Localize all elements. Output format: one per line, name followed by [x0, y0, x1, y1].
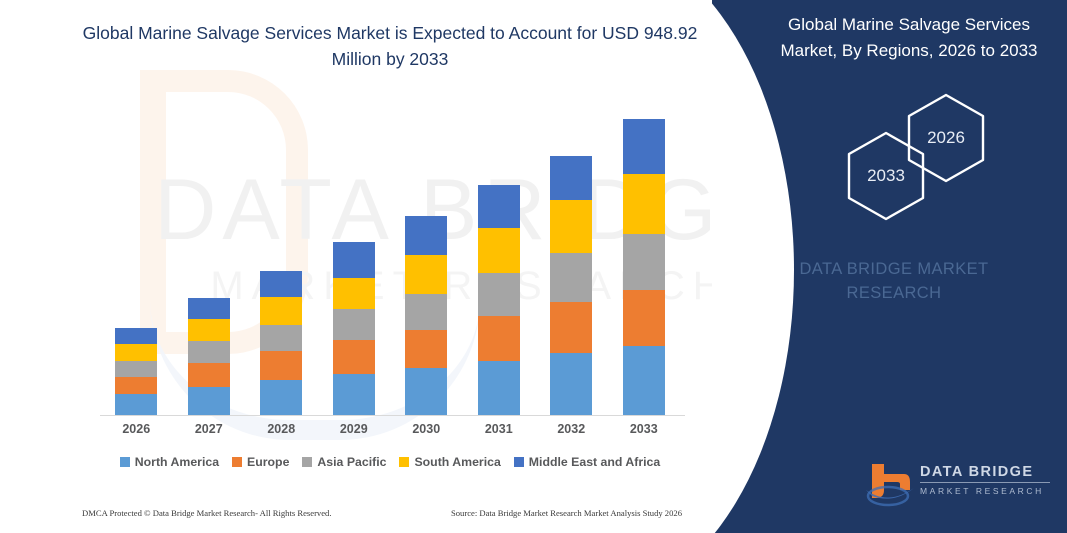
logo-line-2: MARKET RESEARCH: [920, 486, 1050, 496]
data-bridge-logo-icon: [864, 460, 916, 508]
stacked-bar-2033: [623, 119, 665, 415]
brand-panel: Global Marine Salvage Services Market, B…: [712, 0, 1067, 533]
x-axis-tick-label: 2030: [395, 422, 457, 436]
hexagon-badge-2033: 2033: [844, 130, 928, 222]
bar-segment: [405, 330, 447, 368]
legend-item[interactable]: North America: [120, 455, 219, 469]
bar-segment: [623, 234, 665, 290]
bar-segment: [333, 340, 375, 374]
bar-segment: [188, 387, 230, 415]
bar-segment: [333, 242, 375, 278]
stacked-bar-2029: [333, 242, 375, 415]
legend-label: North America: [135, 455, 219, 469]
x-axis-tick-label: 2033: [613, 422, 675, 436]
stacked-bar-2031: [478, 185, 520, 415]
bar-segment: [478, 361, 520, 415]
bar-segment: [550, 253, 592, 302]
bar-segment: [623, 346, 665, 415]
bar-segment: [478, 273, 520, 315]
bar-segment: [550, 156, 592, 201]
footer-copyright: DMCA Protected © Data Bridge Market Rese…: [82, 508, 332, 518]
x-axis-labels: 20262027202820292030203120322033: [100, 422, 680, 436]
bar-segment: [115, 377, 157, 394]
bar-column: [323, 110, 385, 415]
bar-chart-plot: [100, 110, 680, 415]
brand-panel-title: Global Marine Salvage Services Market, B…: [764, 12, 1054, 63]
chart-legend: North AmericaEuropeAsia PacificSouth Ame…: [100, 455, 680, 469]
chart-panel: DATA BRIDGE MARKET RESEARCH Global Marin…: [0, 0, 740, 533]
stacked-bar-2028: [260, 271, 302, 415]
bar-segment: [623, 119, 665, 175]
brand-name-text: DATA BRIDGE MARKET RESEARCH: [754, 258, 1034, 306]
bar-segment: [623, 174, 665, 234]
legend-label: South America: [414, 455, 500, 469]
stacked-bar-2032: [550, 156, 592, 415]
logo-wordmark: DATA BRIDGE MARKET RESEARCH: [920, 464, 1050, 496]
chart-title: Global Marine Salvage Services Market is…: [80, 20, 700, 73]
footer-source: Source: Data Bridge Market Research Mark…: [451, 508, 682, 518]
legend-label: Europe: [247, 455, 289, 469]
bar-segment: [550, 353, 592, 415]
bar-segment: [478, 316, 520, 361]
bar-segment: [405, 368, 447, 415]
bar-segment: [115, 328, 157, 344]
stacked-bar-2030: [405, 216, 447, 415]
bar-segment: [478, 228, 520, 274]
bar-segment: [478, 185, 520, 227]
bar-segment: [623, 290, 665, 347]
infographic-root: DATA BRIDGE MARKET RESEARCH Global Marin…: [0, 0, 1067, 533]
bar-segment: [188, 319, 230, 341]
legend-swatch-icon: [302, 457, 312, 467]
stacked-bar-2026: [115, 328, 157, 415]
legend-swatch-icon: [120, 457, 130, 467]
logo-line-1: DATA BRIDGE: [920, 464, 1050, 483]
bar-segment: [115, 361, 157, 377]
x-axis-tick-label: 2028: [250, 422, 312, 436]
x-axis-tick-label: 2027: [178, 422, 240, 436]
bar-segment: [333, 309, 375, 340]
x-axis-tick-label: 2029: [323, 422, 385, 436]
bar-segment: [260, 351, 302, 380]
bar-segment: [260, 325, 302, 351]
bar-segment: [188, 341, 230, 363]
bar-segment: [550, 200, 592, 252]
bar-column: [540, 110, 602, 415]
hexagon-label-2026: 2026: [927, 128, 965, 148]
bar-column: [613, 110, 675, 415]
bar-segment: [550, 302, 592, 353]
legend-item[interactable]: South America: [399, 455, 500, 469]
bar-segment: [260, 380, 302, 415]
bar-segment: [188, 298, 230, 319]
legend-item[interactable]: Middle East and Africa: [514, 455, 660, 469]
footer: DMCA Protected © Data Bridge Market Rese…: [82, 508, 682, 518]
bar-column: [468, 110, 530, 415]
bar-segment: [260, 271, 302, 297]
company-logo: DATA BRIDGE MARKET RESEARCH: [864, 458, 1054, 510]
hexagon-label-2033: 2033: [867, 166, 905, 186]
bar-segment: [405, 216, 447, 255]
legend-item[interactable]: Asia Pacific: [302, 455, 386, 469]
legend-item[interactable]: Europe: [232, 455, 289, 469]
bar-segment: [260, 297, 302, 324]
bar-column: [178, 110, 240, 415]
bar-segment: [115, 344, 157, 360]
x-axis-line: [100, 415, 685, 416]
legend-swatch-icon: [514, 457, 524, 467]
bar-column: [250, 110, 312, 415]
x-axis-tick-label: 2032: [540, 422, 602, 436]
legend-swatch-icon: [399, 457, 409, 467]
bar-segment: [405, 294, 447, 330]
legend-label: Asia Pacific: [317, 455, 386, 469]
bar-segment: [333, 278, 375, 310]
legend-swatch-icon: [232, 457, 242, 467]
legend-label: Middle East and Africa: [529, 455, 660, 469]
bar-segment: [333, 374, 375, 415]
bar-column: [395, 110, 457, 415]
bar-segment: [405, 255, 447, 294]
bar-segment: [188, 363, 230, 387]
bar-segment: [115, 394, 157, 415]
x-axis-tick-label: 2026: [105, 422, 167, 436]
bar-column: [105, 110, 167, 415]
x-axis-tick-label: 2031: [468, 422, 530, 436]
hexagon-badge-group: 2026 2033: [712, 88, 1067, 208]
stacked-bar-2027: [188, 298, 230, 415]
